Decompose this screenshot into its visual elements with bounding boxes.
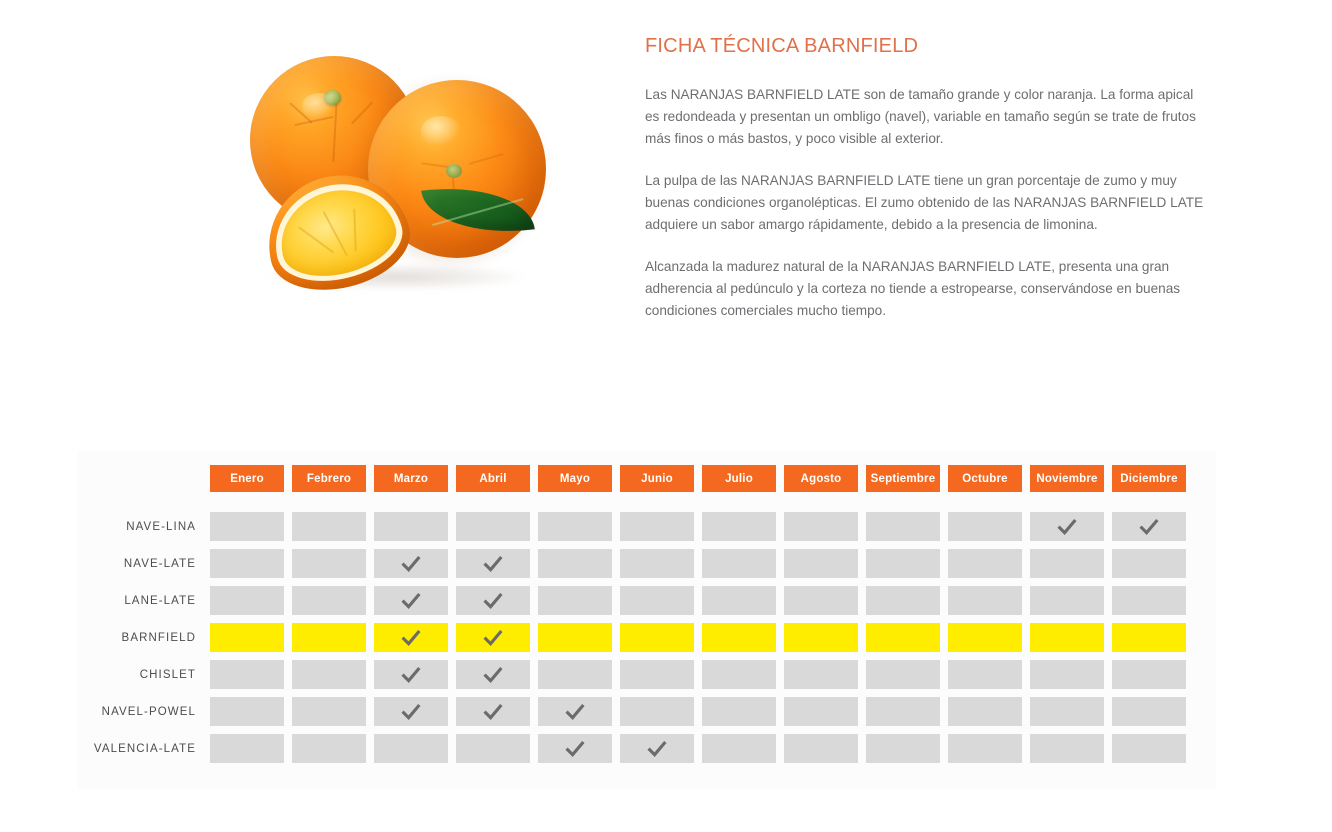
availability-cell[interactable] [866, 549, 940, 578]
peel-crease [332, 100, 337, 162]
availability-cell[interactable] [948, 660, 1022, 689]
check-icon [482, 701, 504, 723]
table-row: NAVEL-POWEL [78, 697, 1216, 726]
availability-cell[interactable] [538, 512, 612, 541]
table-row: NAVE-LINA [78, 512, 1216, 541]
table-row: CHISLET [78, 660, 1216, 689]
month-header-octubre[interactable]: Octubre [948, 465, 1022, 492]
availability-cell[interactable] [1112, 623, 1186, 652]
availability-cell[interactable] [210, 512, 284, 541]
availability-cell[interactable] [866, 697, 940, 726]
availability-cell[interactable] [1112, 586, 1186, 615]
orange-wedge-icon [266, 176, 408, 288]
check-icon [1056, 516, 1078, 538]
availability-cell[interactable] [702, 549, 776, 578]
month-header-septiembre[interactable]: Septiembre [866, 465, 940, 492]
availability-cell[interactable] [292, 549, 366, 578]
availability-cell[interactable] [1030, 660, 1104, 689]
orange-stem-icon [324, 90, 341, 105]
availability-cell[interactable] [538, 623, 612, 652]
availability-cell[interactable] [702, 512, 776, 541]
availability-cell[interactable] [456, 660, 530, 689]
check-icon [400, 553, 422, 575]
peel-crease [294, 116, 334, 126]
description-paragraph-3: Alcanzada la madurez natural de la NARAN… [645, 256, 1207, 322]
variety-label-barnfield: BARNFIELD [78, 632, 210, 644]
availability-cell[interactable] [374, 660, 448, 689]
month-header-noviembre[interactable]: Noviembre [1030, 465, 1104, 492]
availability-cell[interactable] [456, 549, 530, 578]
page-title: FICHA TÉCNICA BARNFIELD [645, 34, 1207, 58]
availability-calendar-panel: EneroFebreroMarzoAbrilMayoJunioJulioAgos… [78, 450, 1216, 790]
availability-cell[interactable] [948, 512, 1022, 541]
availability-cell[interactable] [374, 697, 448, 726]
availability-cell[interactable] [210, 586, 284, 615]
product-overview-section: FICHA TÉCNICA BARNFIELD Las NARANJAS BAR… [0, 0, 1332, 420]
availability-cell[interactable] [784, 660, 858, 689]
month-header-marzo[interactable]: Marzo [374, 465, 448, 492]
product-description-column: FICHA TÉCNICA BARNFIELD Las NARANJAS BAR… [645, 34, 1207, 322]
check-icon [482, 590, 504, 612]
description-paragraph-2: La pulpa de las NARANJAS BARNFIELD LATE … [645, 170, 1207, 236]
availability-cell[interactable] [948, 549, 1022, 578]
availability-cell[interactable] [292, 512, 366, 541]
availability-cell[interactable] [784, 549, 858, 578]
check-icon [482, 627, 504, 649]
availability-calendar-table: EneroFebreroMarzoAbrilMayoJunioJulioAgos… [78, 450, 1216, 763]
month-header-row: EneroFebreroMarzoAbrilMayoJunioJulioAgos… [78, 465, 1216, 492]
product-image [232, 28, 562, 300]
availability-cell[interactable] [210, 549, 284, 578]
availability-cell[interactable] [620, 586, 694, 615]
availability-cell[interactable] [866, 586, 940, 615]
availability-cell[interactable] [866, 623, 940, 652]
availability-cell[interactable] [1112, 734, 1186, 763]
availability-cell[interactable] [784, 697, 858, 726]
month-header-diciembre[interactable]: Diciembre [1112, 465, 1186, 492]
month-header-febrero[interactable]: Febrero [292, 465, 366, 492]
availability-cell[interactable] [784, 512, 858, 541]
check-icon [400, 701, 422, 723]
availability-cell[interactable] [374, 734, 448, 763]
availability-cell[interactable] [866, 734, 940, 763]
availability-cell[interactable] [538, 586, 612, 615]
availability-cell[interactable] [1030, 697, 1104, 726]
availability-cell[interactable] [784, 623, 858, 652]
check-icon [564, 701, 586, 723]
month-header-abril[interactable]: Abril [456, 465, 530, 492]
availability-cell[interactable] [1112, 660, 1186, 689]
availability-cell[interactable] [1030, 623, 1104, 652]
availability-cell[interactable] [538, 697, 612, 726]
availability-cell[interactable] [702, 697, 776, 726]
availability-cell[interactable] [620, 697, 694, 726]
check-icon [482, 664, 504, 686]
availability-cell[interactable] [1030, 549, 1104, 578]
availability-cell[interactable] [456, 586, 530, 615]
availability-cell[interactable] [374, 586, 448, 615]
variety-label-valencia-late: VALENCIA-LATE [78, 743, 210, 755]
wedge-segment-line [298, 226, 334, 253]
peel-crease [468, 153, 503, 165]
availability-cell[interactable] [784, 586, 858, 615]
month-header-mayo[interactable]: Mayo [538, 465, 612, 492]
product-photo-stage [232, 28, 562, 300]
availability-cell[interactable] [292, 586, 366, 615]
availability-cell[interactable] [538, 660, 612, 689]
availability-cell[interactable] [784, 734, 858, 763]
availability-cell[interactable] [948, 586, 1022, 615]
month-header-agosto[interactable]: Agosto [784, 465, 858, 492]
availability-cell[interactable] [620, 549, 694, 578]
wedge-segment-line [352, 208, 356, 251]
orange-stem-icon [446, 164, 462, 178]
variety-label-navel-powel: NAVEL-POWEL [78, 706, 210, 718]
availability-cell[interactable] [702, 623, 776, 652]
variety-label-nave-late: NAVE-LATE [78, 558, 210, 570]
availability-cell[interactable] [456, 697, 530, 726]
availability-cell[interactable] [210, 660, 284, 689]
month-header-junio[interactable]: Junio [620, 465, 694, 492]
peel-crease [351, 102, 373, 125]
check-icon [400, 664, 422, 686]
availability-cell[interactable] [948, 697, 1022, 726]
availability-cell[interactable] [948, 623, 1022, 652]
availability-cell[interactable] [374, 549, 448, 578]
availability-cell[interactable] [456, 512, 530, 541]
availability-cell[interactable] [702, 586, 776, 615]
availability-cell[interactable] [620, 623, 694, 652]
check-icon [564, 738, 586, 760]
availability-cell[interactable] [456, 623, 530, 652]
availability-cell[interactable] [866, 660, 940, 689]
table-row: VALENCIA-LATE [78, 734, 1216, 763]
availability-cell[interactable] [292, 623, 366, 652]
availability-cell[interactable] [866, 512, 940, 541]
variety-label-nave-lina: NAVE-LINA [78, 521, 210, 533]
availability-cell[interactable] [1112, 697, 1186, 726]
availability-cell[interactable] [456, 734, 530, 763]
check-icon [646, 738, 668, 760]
availability-cell[interactable] [292, 697, 366, 726]
availability-cell[interactable] [210, 623, 284, 652]
description-paragraph-1: Las NARANJAS BARNFIELD LATE son de tamañ… [645, 84, 1207, 150]
variety-label-lane-late: LANE-LATE [78, 595, 210, 607]
availability-cell[interactable] [702, 734, 776, 763]
table-row: NAVE-LATE [78, 549, 1216, 578]
check-icon [400, 590, 422, 612]
availability-cell[interactable] [210, 697, 284, 726]
availability-cell[interactable] [374, 623, 448, 652]
table-row: BARNFIELD [78, 623, 1216, 652]
availability-cell[interactable] [210, 734, 284, 763]
availability-cell[interactable] [1030, 512, 1104, 541]
availability-cell[interactable] [538, 734, 612, 763]
availability-cell[interactable] [1112, 512, 1186, 541]
availability-cell[interactable] [620, 660, 694, 689]
check-icon [400, 627, 422, 649]
check-icon [482, 553, 504, 575]
check-icon [1138, 516, 1160, 538]
availability-cell[interactable] [374, 512, 448, 541]
availability-cell[interactable] [1112, 549, 1186, 578]
availability-cell[interactable] [620, 512, 694, 541]
availability-cell[interactable] [292, 734, 366, 763]
availability-cell[interactable] [948, 734, 1022, 763]
availability-cell[interactable] [620, 734, 694, 763]
variety-label-chislet: CHISLET [78, 669, 210, 681]
availability-cell[interactable] [1030, 586, 1104, 615]
month-header-julio[interactable]: Julio [702, 465, 776, 492]
availability-cell[interactable] [702, 660, 776, 689]
availability-cell[interactable] [538, 549, 612, 578]
availability-cell[interactable] [292, 660, 366, 689]
month-header-enero[interactable]: Enero [210, 465, 284, 492]
availability-cell[interactable] [1030, 734, 1104, 763]
table-row: LANE-LATE [78, 586, 1216, 615]
